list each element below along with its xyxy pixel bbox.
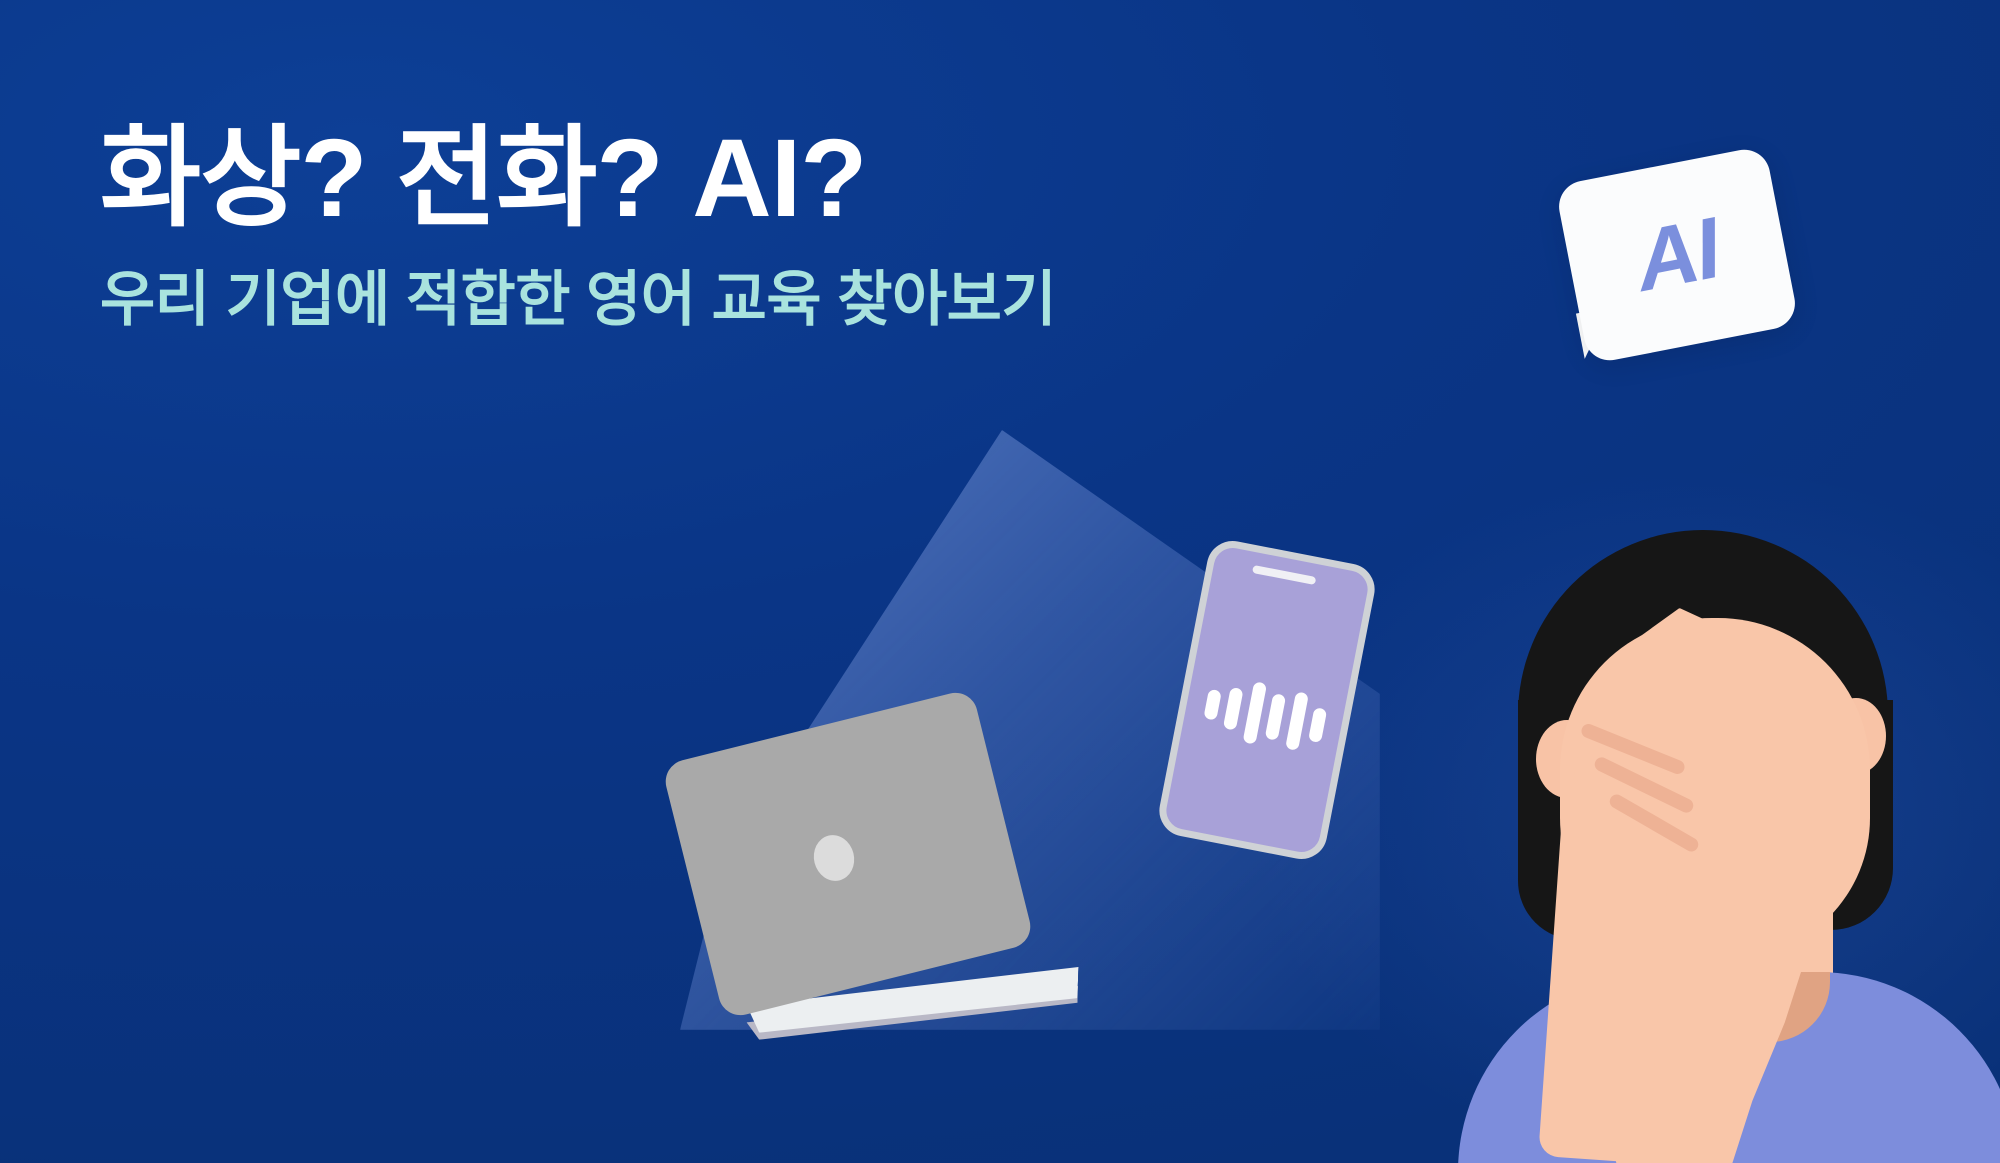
laptop-icon [688, 723, 1038, 1023]
person-facepalm-illustration [1448, 520, 2000, 1163]
page-title: 화상? 전화? AI? [100, 120, 1200, 239]
page-subtitle: 우리 기업에 적합한 영어 교육 찾아보기 [100, 265, 1200, 334]
promo-banner: 화상? 전화? AI? 우리 기업에 적합한 영어 교육 찾아보기 AI [0, 0, 2000, 1163]
headline-block: 화상? 전화? AI? 우리 기업에 적합한 영어 교육 찾아보기 [100, 120, 1200, 334]
waveform-bar-3 [1242, 681, 1267, 744]
waveform-bar-5 [1285, 691, 1309, 750]
speech-bubble-body: AI [1555, 145, 1800, 364]
waveform-bar-2 [1223, 687, 1244, 731]
ai-bubble-label: AI [1555, 145, 1800, 364]
waveform-bar-4 [1265, 693, 1287, 741]
ai-speech-bubble-icon: AI [1558, 150, 1818, 410]
